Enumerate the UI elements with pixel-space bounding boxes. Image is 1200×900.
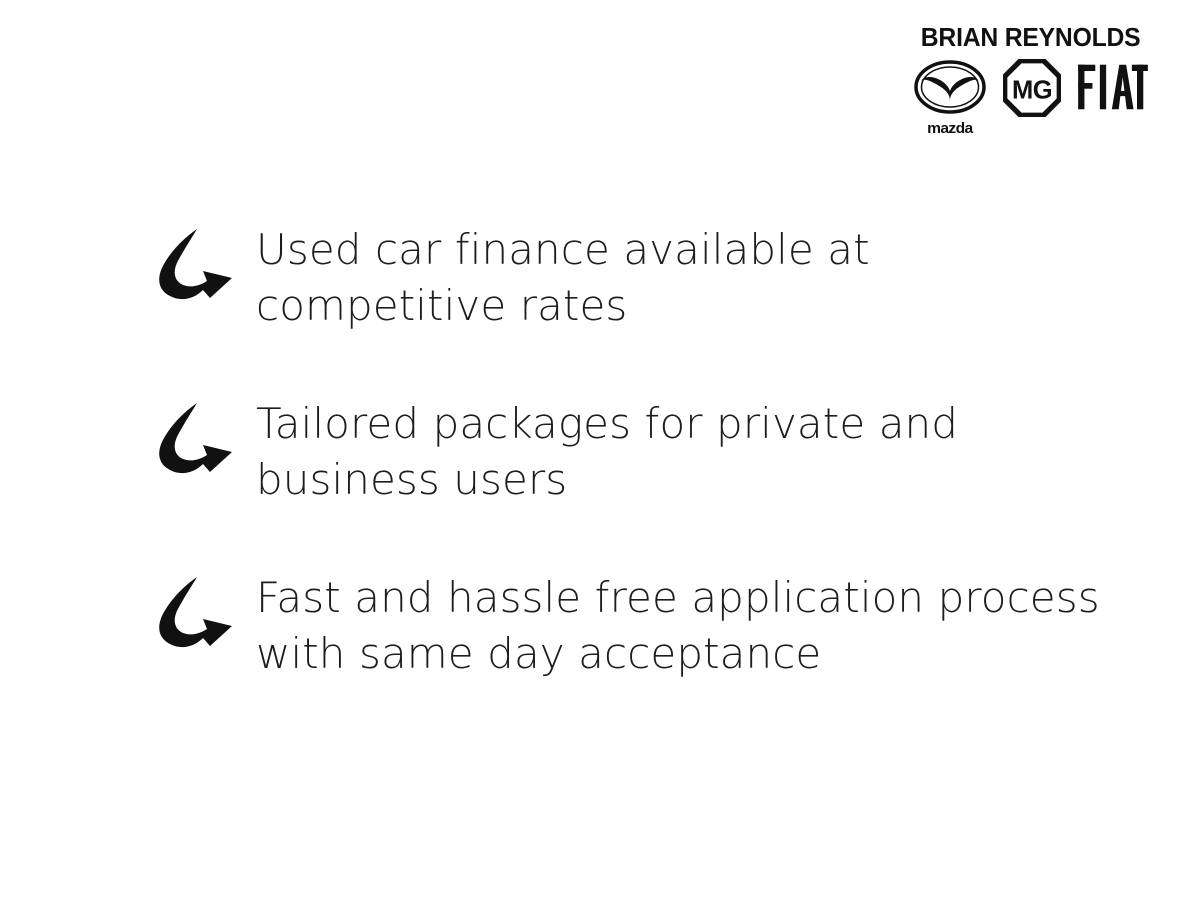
dealer-name: BRIAN REYNOLDS (921, 24, 1141, 50)
mg-logo: MG (1003, 59, 1061, 122)
list-item: Tailored packages for private and busine… (148, 396, 1128, 508)
mazda-wordmark: mazda (927, 121, 972, 136)
brand-block: BRIAN REYNOLDS mazda MG (906, 24, 1156, 136)
fiat-logo (1077, 59, 1149, 120)
curved-arrow-icon (148, 402, 234, 482)
bullet-list: Used car finance available at competitiv… (148, 222, 1128, 682)
logo-row: mazda MG (913, 59, 1149, 136)
fiat-logo-slot (1077, 59, 1149, 120)
mazda-logo-slot: mazda (913, 59, 987, 136)
curved-arrow-icon (148, 576, 234, 656)
list-item: Fast and hassle free application process… (148, 570, 1128, 682)
bullet-text: Tailored packages for private and busine… (256, 396, 1056, 508)
mazda-logo (913, 59, 987, 120)
curved-arrow-icon (148, 228, 234, 308)
bullet-text: Used car finance available at competitiv… (256, 222, 1056, 334)
list-item: Used car finance available at competitiv… (148, 222, 1128, 334)
bullet-text: Fast and hassle free application process… (256, 570, 1128, 682)
svg-text:MG: MG (1012, 76, 1052, 104)
mg-logo-slot: MG (1003, 59, 1061, 122)
